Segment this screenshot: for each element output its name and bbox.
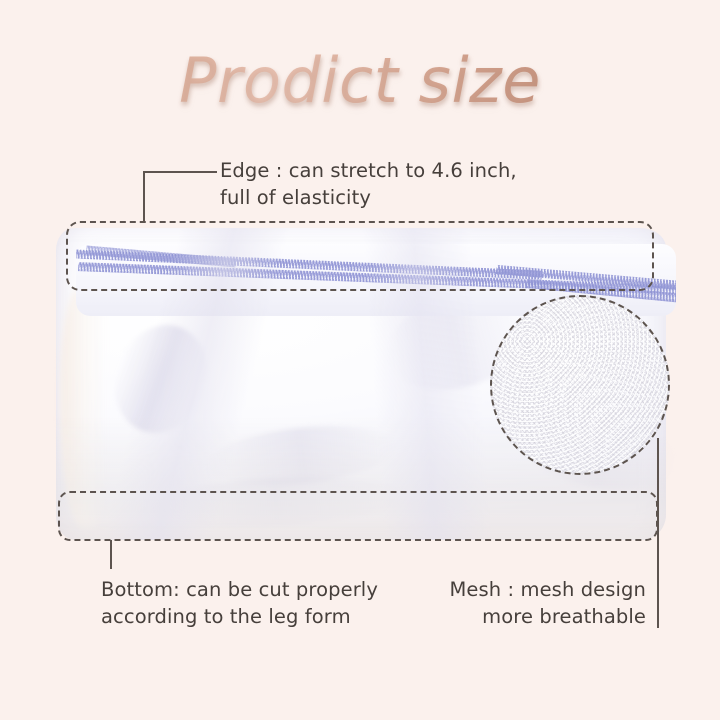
- page-title: Prodict size: [0, 48, 720, 113]
- fabric-fold: [100, 312, 222, 446]
- bottom-leader-line: [110, 540, 112, 569]
- edge-highlight-box: [66, 221, 654, 291]
- mesh-callout-label: Mesh : mesh design more breathable: [449, 576, 646, 630]
- edge-callout-label: Edge : can stretch to 4.6 inch, full of …: [220, 157, 517, 211]
- mesh-texture: [492, 297, 668, 473]
- fabric-fold: [204, 418, 399, 494]
- mesh-leader-line: [657, 438, 659, 628]
- product-size-infographic: Prodict size Edge : ca: [0, 0, 720, 720]
- mesh-detail-circle: [490, 295, 670, 475]
- edge-leader-line-horizontal: [143, 171, 217, 173]
- bottom-highlight-box: [58, 491, 658, 541]
- edge-leader-line-vertical: [143, 171, 145, 223]
- bottom-callout-label: Bottom: can be cut properly according to…: [101, 576, 378, 630]
